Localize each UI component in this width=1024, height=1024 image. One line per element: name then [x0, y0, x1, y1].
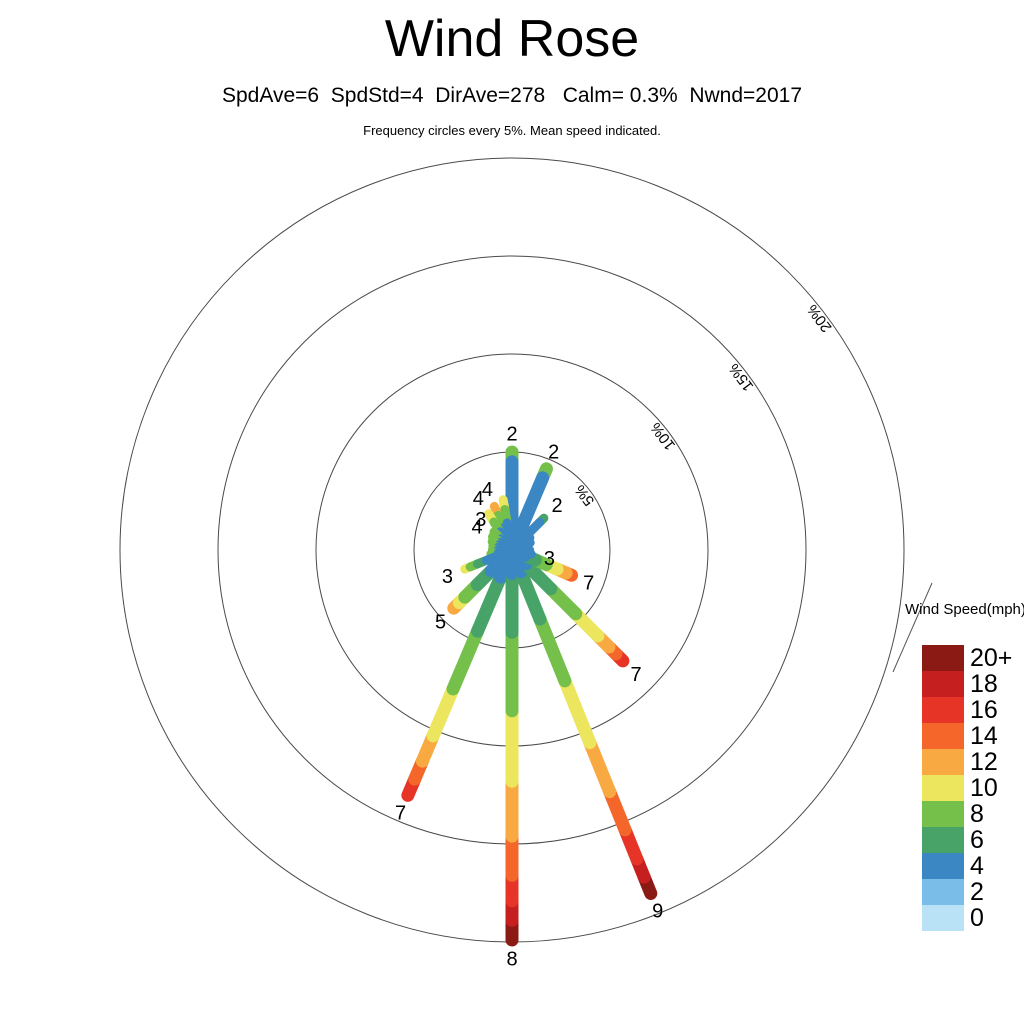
mean-speed-label: 8 — [506, 949, 517, 971]
legend-swatch — [922, 853, 964, 879]
legend-title: Wind Speed(mph) — [905, 601, 1024, 619]
petal-segment — [433, 689, 453, 736]
legend-row: 4 — [922, 853, 964, 879]
legend-swatch — [922, 723, 964, 749]
legend-label: 6 — [970, 827, 984, 853]
ring-labels: 5%10%15%20% — [571, 301, 835, 509]
legend-label: 2 — [970, 879, 984, 905]
wind-rose-plot: 5%10%15%20% 987775343442223 — [0, 0, 1024, 1024]
wind-petal — [512, 550, 651, 893]
ring-label: 15% — [726, 360, 758, 394]
wind-speed-legend: 20+181614121086420 — [922, 645, 964, 931]
petal-segment — [565, 681, 590, 743]
wind-petals — [408, 452, 651, 940]
mean-speed-label: 4 — [482, 479, 493, 501]
legend-row: 2 — [922, 879, 964, 905]
petal-segment — [590, 743, 610, 792]
legend-row: 18 — [922, 671, 964, 697]
legend-label: 12 — [970, 749, 998, 775]
legend-row: 8 — [922, 801, 964, 827]
legend-row: 20+ — [922, 645, 964, 671]
legend-swatch — [922, 671, 964, 697]
legend-swatch — [922, 775, 964, 801]
legend-label: 18 — [970, 671, 998, 697]
legend-label: 8 — [970, 801, 984, 827]
mean-speed-label: 2 — [551, 495, 562, 517]
legend-label: 16 — [970, 697, 998, 723]
mean-speed-label: 2 — [506, 423, 517, 445]
mean-speed-label: 7 — [583, 573, 594, 595]
legend-label: 14 — [970, 723, 998, 749]
ring-label: 10% — [647, 419, 679, 453]
wind-petal — [408, 550, 512, 795]
mean-speed-label: 3 — [544, 548, 555, 570]
mean-speed-label: 3 — [475, 509, 486, 531]
ring-label: 20% — [804, 301, 836, 335]
legend-swatch — [922, 697, 964, 723]
legend-row: 14 — [922, 723, 964, 749]
legend-label: 10 — [970, 775, 998, 801]
mean-speed-label: 3 — [442, 566, 453, 588]
legend-row: 12 — [922, 749, 964, 775]
ring-label: 5% — [571, 481, 598, 509]
legend-swatch — [922, 645, 964, 671]
mean-speed-label: 2 — [548, 442, 559, 464]
petal-segment — [507, 523, 512, 550]
legend-swatch — [922, 905, 964, 931]
legend-swatch — [922, 879, 964, 905]
legend-label: 4 — [970, 853, 984, 879]
wind-rose-page: Wind Rose SpdAve=6 SpdStd=4 DirAve=278 C… — [0, 0, 1024, 1024]
mean-speed-label: 7 — [395, 803, 406, 825]
legend-swatch — [922, 827, 964, 853]
mean-speed-label: 5 — [435, 611, 446, 633]
legend-row: 10 — [922, 775, 964, 801]
mean-speed-label: 7 — [630, 664, 641, 686]
legend-row: 0 — [922, 905, 964, 931]
legend-label: 20+ — [970, 645, 1012, 671]
legend-row: 6 — [922, 827, 964, 853]
mean-speed-label: 9 — [652, 901, 663, 923]
legend-row: 16 — [922, 697, 964, 723]
legend-swatch — [922, 749, 964, 775]
petal-segment — [540, 619, 565, 681]
petal-segment — [453, 631, 478, 689]
legend-swatch — [922, 801, 964, 827]
legend-label: 0 — [970, 905, 984, 931]
